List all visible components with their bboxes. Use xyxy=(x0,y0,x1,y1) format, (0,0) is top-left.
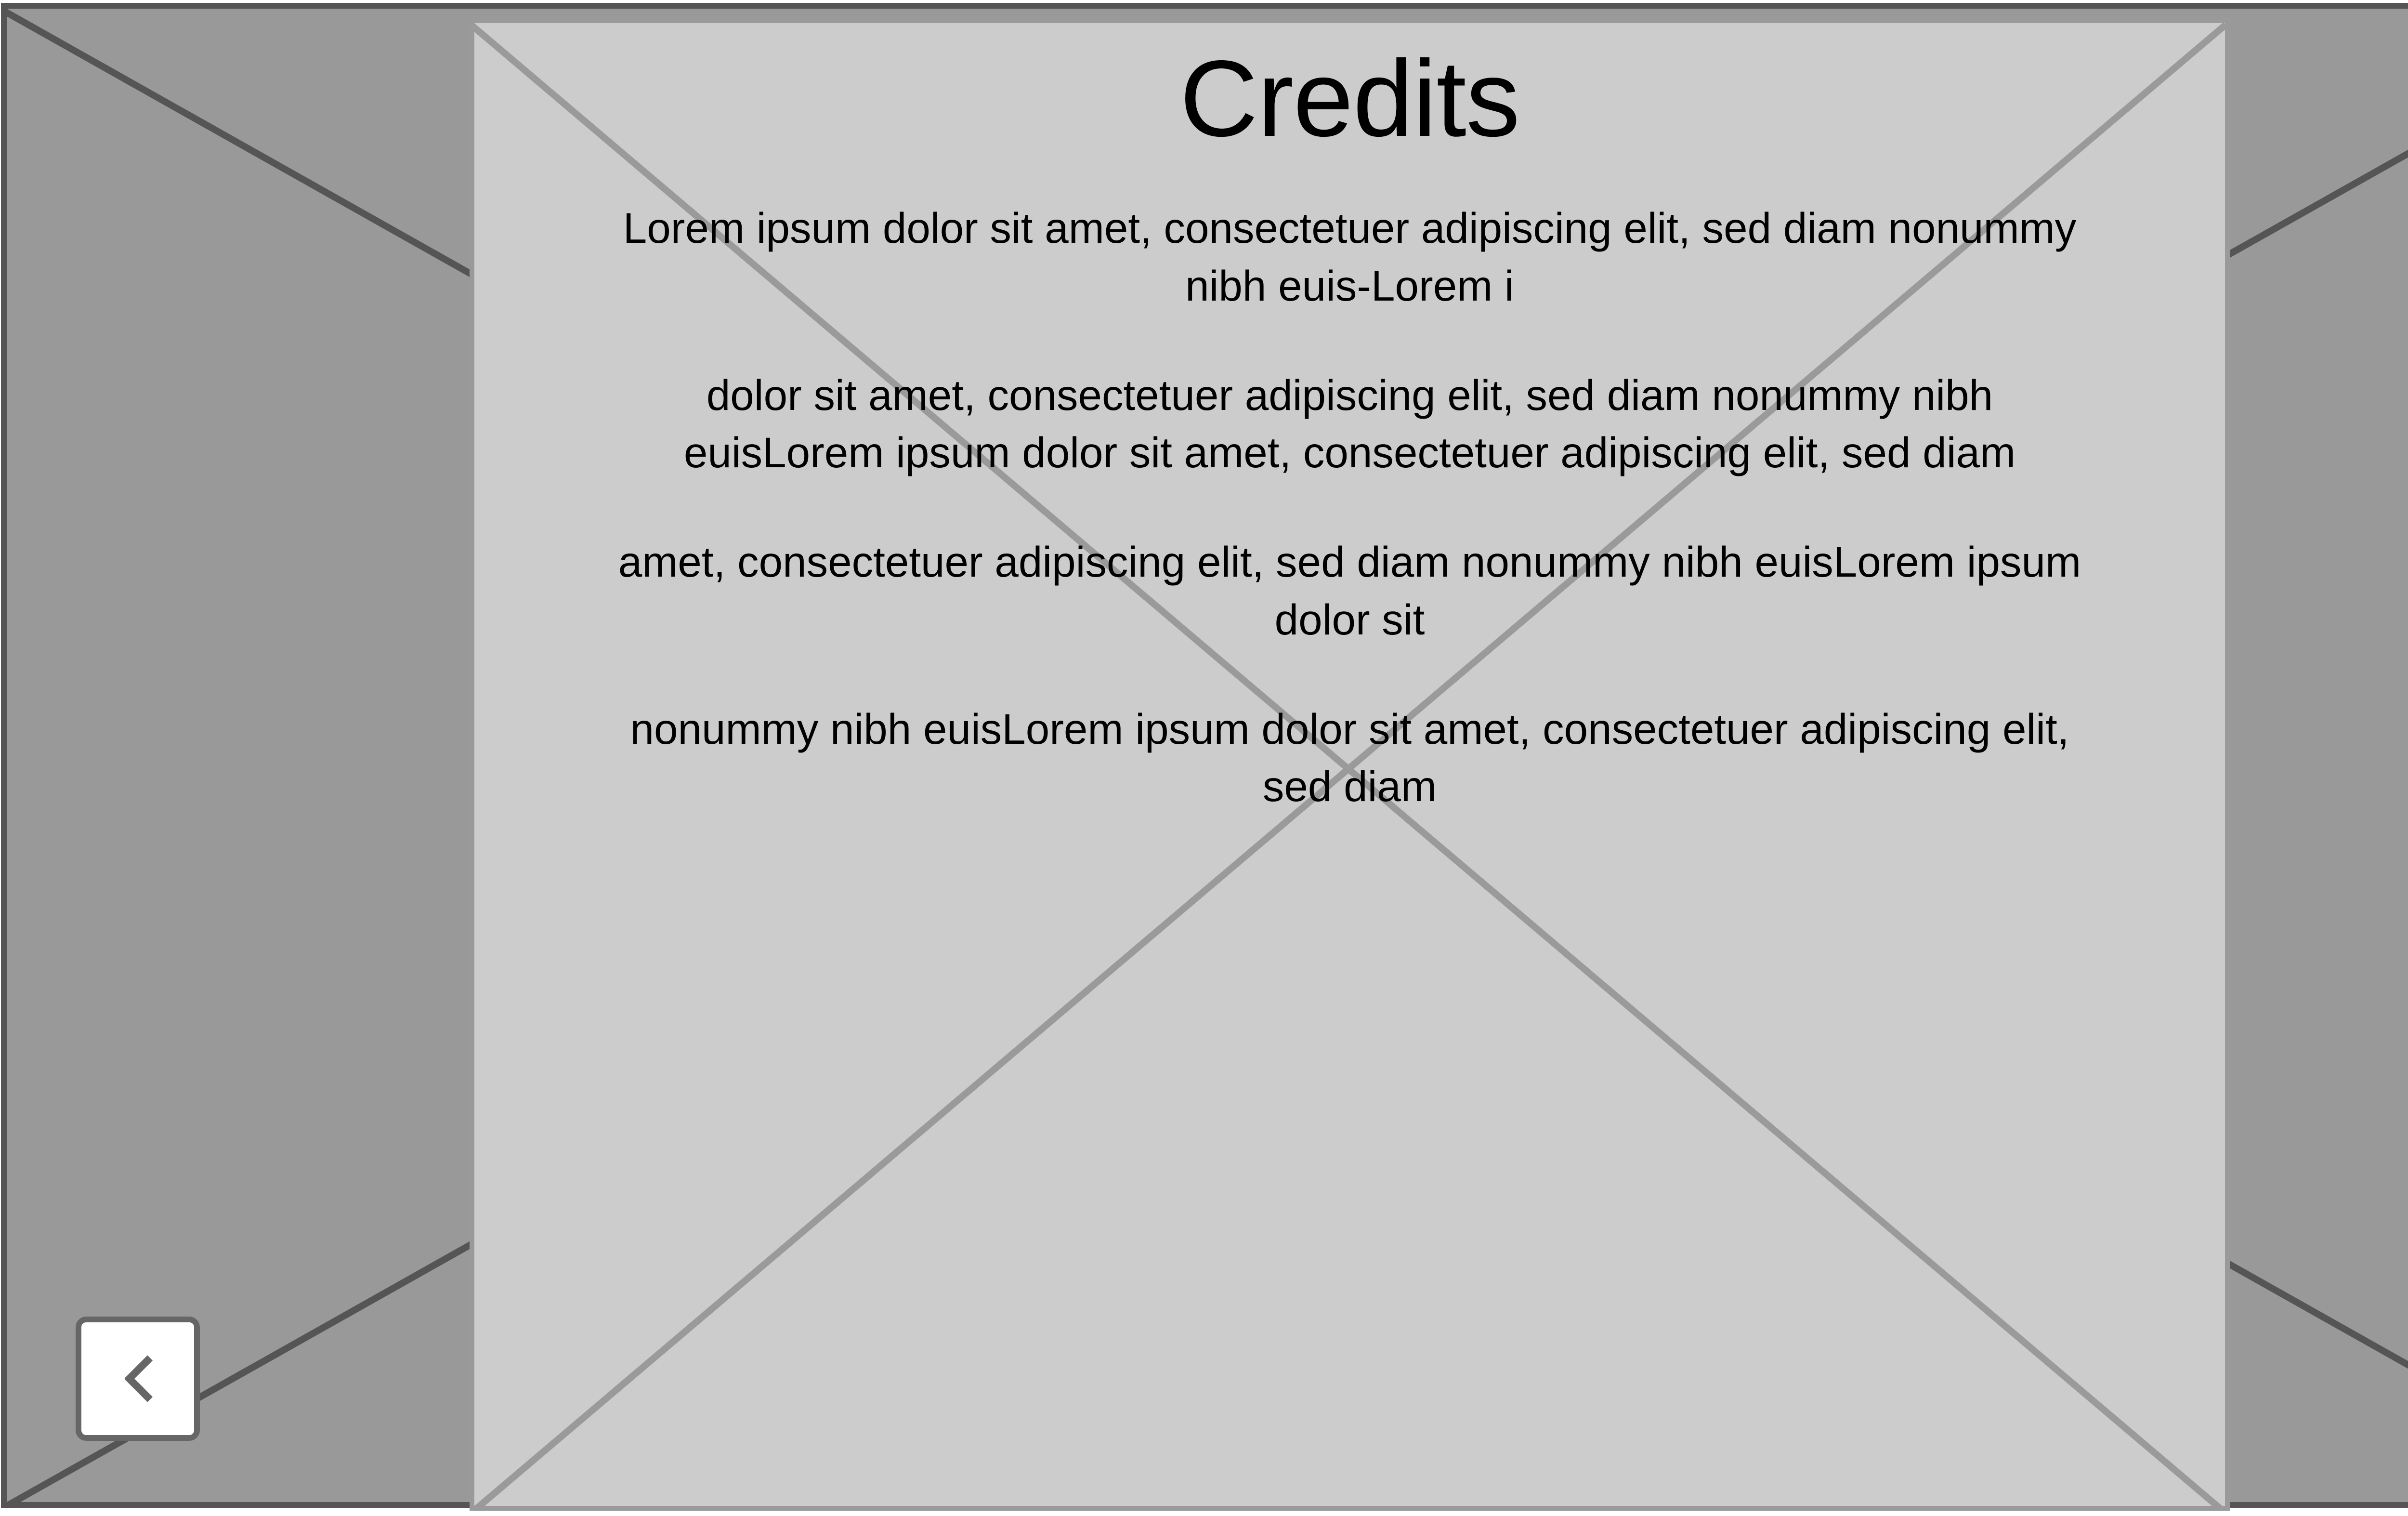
credits-body: Lorem ipsum dolor sit amet, consectetuer… xyxy=(474,199,2225,815)
credit-paragraph: dolor sit amet, consectetuer adipiscing … xyxy=(607,367,2093,482)
credits-panel-content: Credits Lorem ipsum dolor sit amet, cons… xyxy=(474,23,2225,1506)
credits-content-panel: Credits Lorem ipsum dolor sit amet, cons… xyxy=(470,18,2230,1511)
credit-paragraph: Lorem ipsum dolor sit amet, consectetuer… xyxy=(607,199,2093,315)
outer-placeholder-frame: Credits Lorem ipsum dolor sit amet, cons… xyxy=(1,3,2408,1508)
chevron-left-icon xyxy=(118,1353,170,1405)
page-title: Credits xyxy=(474,23,2225,155)
credit-paragraph: amet, consectetuer adipiscing elit, sed … xyxy=(607,533,2093,648)
credit-paragraph: nonummy nibh euisLorem ipsum dolor sit a… xyxy=(607,700,2093,816)
back-button[interactable] xyxy=(76,1317,200,1441)
